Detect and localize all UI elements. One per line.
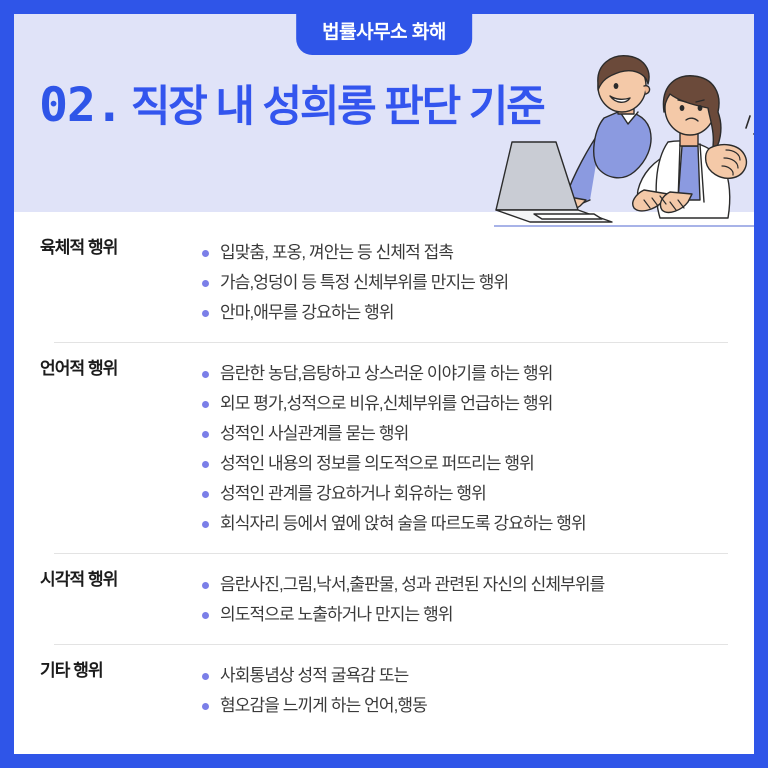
section-item-list: 음란사진,그림,낙서,출판물, 성과 관련된 자신의 신체부위를 의도적으로 노… [200,570,728,630]
list-item: 성적인 사실관계를 묻는 행위 [200,419,728,449]
list-item: 혐오감을 느끼게 하는 언어,행동 [200,691,728,721]
list-item: 성적인 내용의 정보를 의도적으로 퍼뜨리는 행위 [200,449,728,479]
section-other: 기타 행위 사회통념상 성적 굴욕감 또는 혐오감을 느끼게 하는 언어,행동 [40,661,728,721]
section-label: 시각적 행위 [40,570,200,590]
section-item-list: 입맞춤, 포옹, 껴안는 등 신체적 접촉 가슴,엉덩이 등 특정 신체부위를 … [200,238,728,328]
list-item: 회식자리 등에서 옆에 앉혀 술을 따르도록 강요하는 행위 [200,509,728,539]
list-item: 외모 평가,성적으로 비유,신체부위를 언급하는 행위 [200,389,728,419]
list-item: 음란사진,그림,낙서,출판물, 성과 관련된 자신의 신체부위를 [200,570,728,600]
page-title-text: 직장 내 성희롱 판단 기준 [131,72,544,134]
list-item: 음란한 농담,음탕하고 상스러운 이야기를 하는 행위 [200,359,728,389]
section-item-list: 음란한 농담,음탕하고 상스러운 이야기를 하는 행위 외모 평가,성적으로 비… [200,359,728,539]
page-title-number: 02. [39,78,123,133]
list-item: 성적인 관계를 강요하거나 회유하는 행위 [200,479,728,509]
list-item: 입맞춤, 포옹, 껴안는 등 신체적 접촉 [200,238,728,268]
section-divider [54,553,728,554]
list-item: 의도적으로 노출하거나 만지는 행위 [200,600,728,630]
section-visual: 시각적 행위 음란사진,그림,낙서,출판물, 성과 관련된 자신의 신체부위를 … [40,570,728,630]
section-label: 언어적 행위 [40,359,200,379]
header-banner: 법률사무소 화해 02. 직장 내 성희롱 판단 기준 [14,14,754,212]
page-title: 02. 직장 내 성희롱 판단 기준 [40,72,543,134]
section-physical: 육체적 행위 입맞춤, 포옹, 껴안는 등 신체적 접촉 가슴,엉덩이 등 특정… [40,238,728,328]
list-item: 사회통념상 성적 굴욕감 또는 [200,661,728,691]
section-divider [54,342,728,343]
section-label: 육체적 행위 [40,238,200,258]
criteria-list: 육체적 행위 입맞춤, 포옹, 껴안는 등 신체적 접촉 가슴,엉덩이 등 특정… [14,212,754,721]
list-item: 가슴,엉덩이 등 특정 신체부위를 만지는 행위 [200,268,728,298]
section-label: 기타 행위 [40,661,200,681]
brand-badge: 법률사무소 화해 [296,14,472,55]
list-item: 안마,애무를 강요하는 행위 [200,298,728,328]
section-divider [54,644,728,645]
infographic-card: 법률사무소 화해 02. 직장 내 성희롱 판단 기준 [0,0,768,768]
section-verbal: 언어적 행위 음란한 농담,음탕하고 상스러운 이야기를 하는 행위 외모 평가… [40,359,728,539]
section-item-list: 사회통념상 성적 굴욕감 또는 혐오감을 느끼게 하는 언어,행동 [200,661,728,721]
